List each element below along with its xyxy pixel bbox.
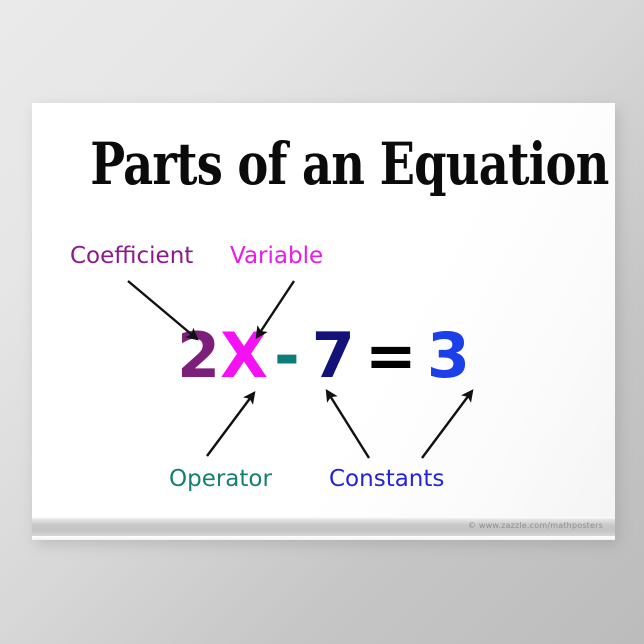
poster-scene: Parts of an Equation Coefficient Variabl…: [0, 0, 644, 644]
arrow-constant-3-icon: [422, 391, 472, 458]
poster-bottom-band: © www.zazzle.com/mathposters: [32, 517, 615, 536]
equation-term-equals: =: [355, 325, 427, 387]
label-coefficient: Coefficient: [70, 245, 193, 268]
copyright-notice: © www.zazzle.com/mathposters: [468, 521, 603, 530]
label-variable: Variable: [230, 245, 323, 268]
equation-term-coefficient: 2: [177, 325, 220, 387]
arrow-constant-7-icon: [327, 391, 369, 458]
label-operator: Operator: [169, 468, 272, 491]
poster: Parts of an Equation Coefficient Variabl…: [32, 103, 615, 540]
equation-term-operator: -: [268, 325, 306, 387]
equation-term-constant-7: 7: [306, 325, 355, 387]
equation: 2X-7=3: [32, 325, 615, 387]
equation-term-constant-3: 3: [427, 325, 470, 387]
label-constants: Constants: [329, 468, 444, 491]
equation-term-variable: X: [220, 325, 268, 387]
poster-bottom-edge: [32, 536, 615, 540]
arrow-operator-icon: [207, 393, 254, 456]
page-title: Parts of an Equation: [90, 135, 556, 193]
